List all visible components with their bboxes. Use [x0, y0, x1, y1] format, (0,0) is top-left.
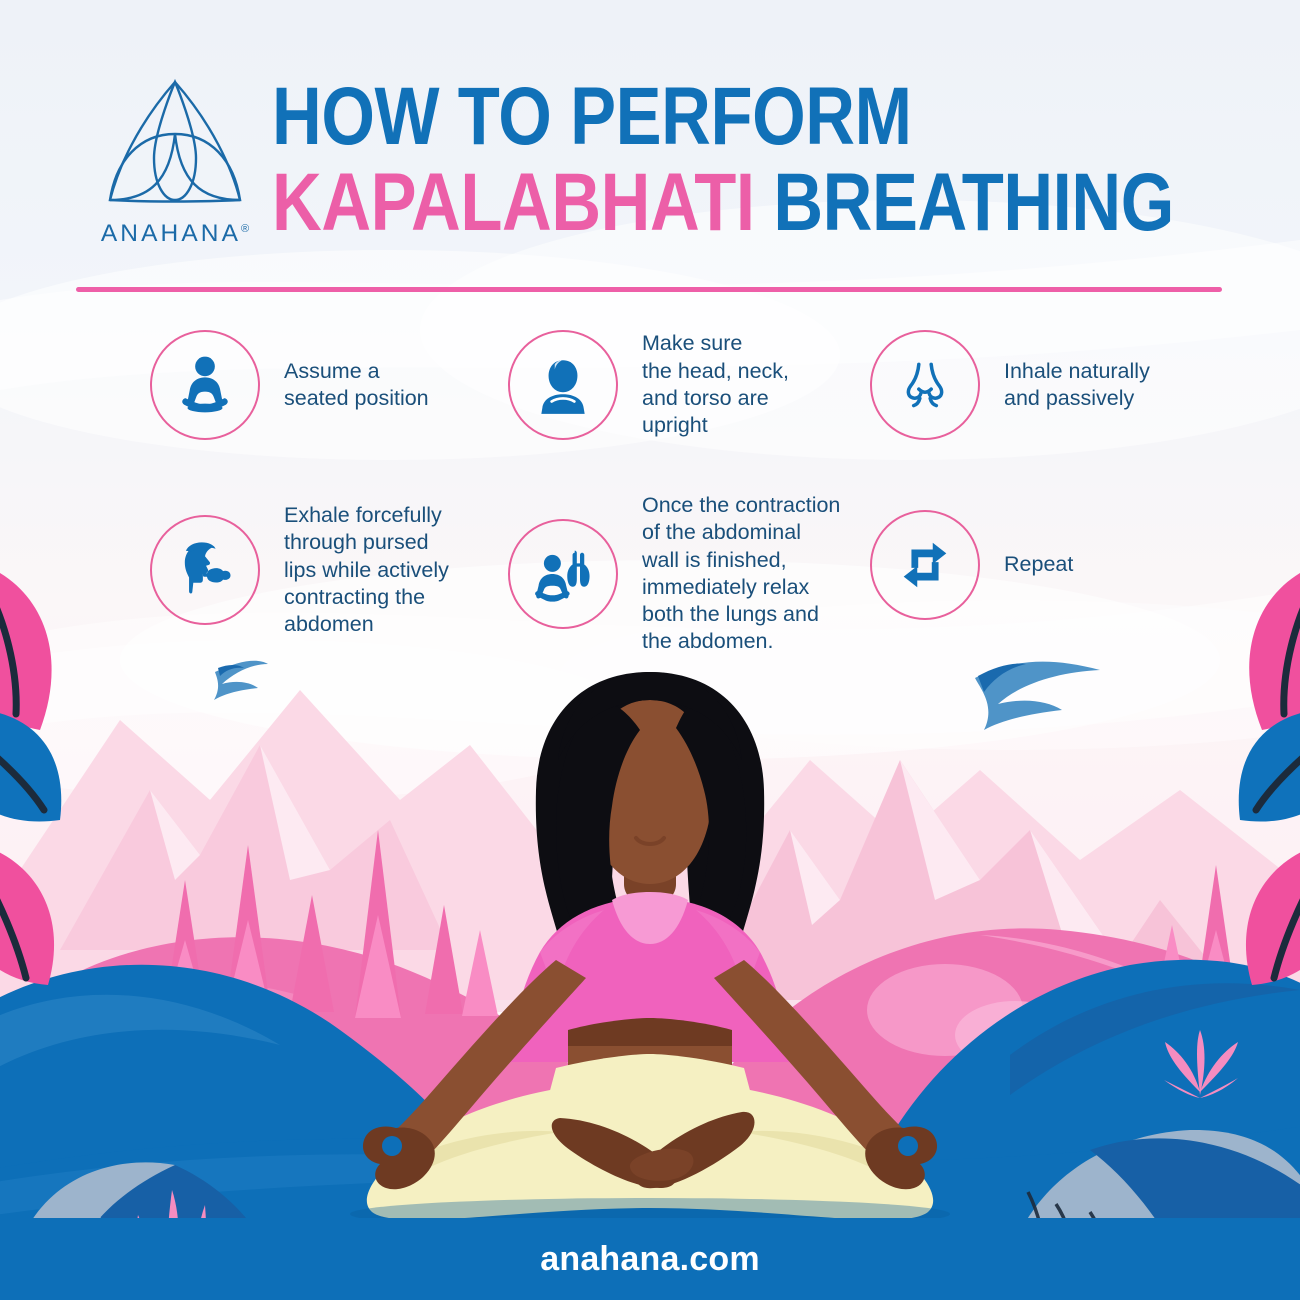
- page-title: HOW TO PERFORM KAPALABHATI BREATHING: [272, 78, 1262, 242]
- seated-meditation-icon: [170, 350, 240, 420]
- step-label-2: Make sure the head, neck, and torso are …: [642, 330, 789, 439]
- infographic-poster: ANAHANA® HOW TO PERFORM KAPALABHATI BREA…: [0, 0, 1300, 1300]
- step-label-1: Assume a seated position: [284, 358, 429, 413]
- brand-name: ANAHANA®: [80, 220, 270, 248]
- step-icon-circle: [150, 330, 260, 440]
- trademark-symbol: ®: [241, 223, 249, 235]
- title-line-2: KAPALABHATI BREATHING: [272, 164, 1104, 243]
- brand-logo[interactable]: ANAHANA®: [80, 72, 270, 257]
- exhale-pursed-lips-icon: [171, 536, 239, 604]
- title-rest-word: BREATHING: [773, 157, 1174, 248]
- step-icon-circle: [508, 330, 618, 440]
- title-rest: [755, 157, 774, 248]
- step-item-6[interactable]: Repeat: [870, 510, 1073, 620]
- step-icon-circle: [508, 519, 618, 629]
- step-item-2[interactable]: Make sure the head, neck, and torso are …: [508, 330, 789, 440]
- header: ANAHANA® HOW TO PERFORM KAPALABHATI BREA…: [0, 0, 1300, 300]
- step-item-4[interactable]: Exhale forcefully through pursed lips wh…: [150, 502, 449, 638]
- footer-bar: anahana.com: [0, 1218, 1300, 1300]
- nose-inhale-icon: [892, 352, 958, 418]
- title-line-1: HOW TO PERFORM: [272, 78, 1104, 157]
- upright-posture-person-icon: [530, 352, 596, 418]
- step-label-6: Repeat: [1004, 551, 1073, 578]
- title-highlight: KAPALABHATI: [272, 157, 755, 248]
- step-label-4: Exhale forcefully through pursed lips wh…: [284, 502, 449, 638]
- step-icon-circle: [150, 515, 260, 625]
- step-item-3[interactable]: Inhale naturally and passively: [870, 330, 1150, 440]
- step-item-5[interactable]: Once the contraction of the abdominal wa…: [508, 492, 840, 656]
- step-label-5: Once the contraction of the abdominal wa…: [642, 492, 840, 656]
- repeat-loop-icon: [894, 534, 956, 596]
- lungs-seated-icon: [529, 540, 597, 608]
- step-icon-circle: [870, 330, 980, 440]
- step-icon-circle: [870, 510, 980, 620]
- step-label-3: Inhale naturally and passively: [1004, 358, 1150, 413]
- title-divider: [76, 287, 1222, 292]
- triquetra-logo-icon: [80, 72, 270, 222]
- step-item-1[interactable]: Assume a seated position: [150, 330, 429, 440]
- steps-list: Assume a seated position Make sure the h…: [0, 320, 1300, 660]
- website-url[interactable]: anahana.com: [540, 1240, 760, 1279]
